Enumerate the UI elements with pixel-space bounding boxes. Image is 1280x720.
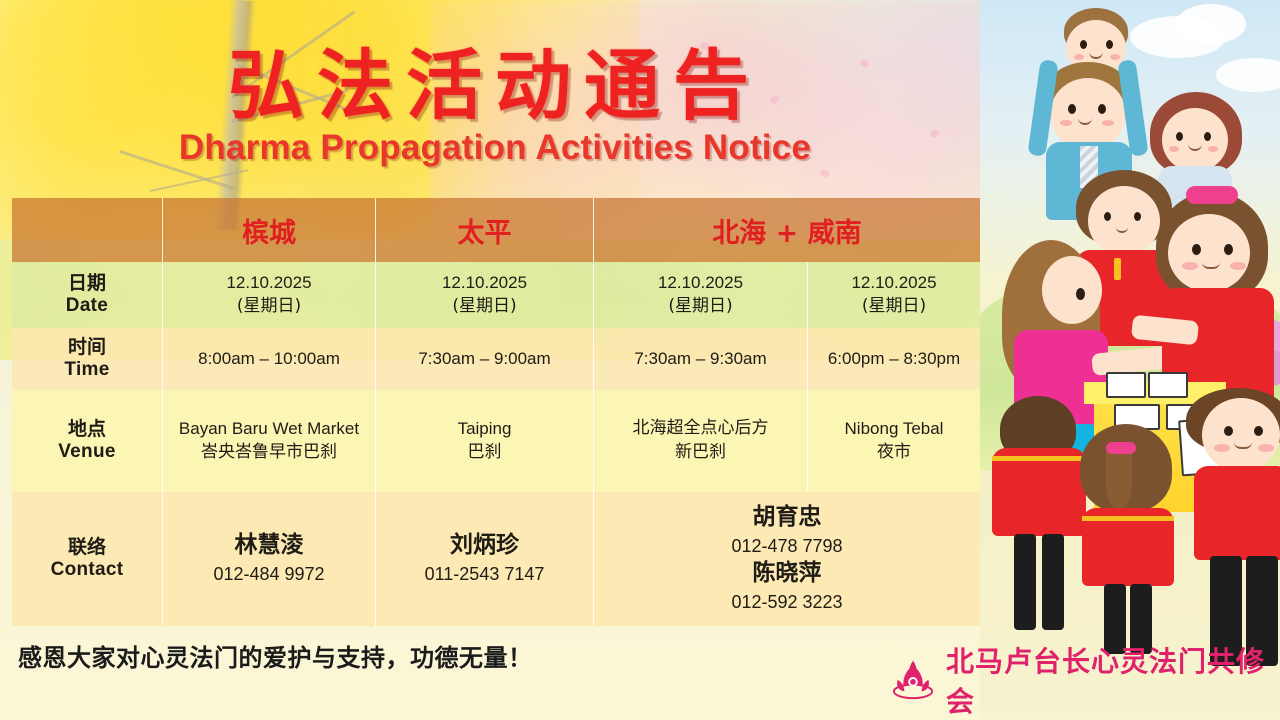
- row-label-time: 时间 Time: [12, 328, 163, 390]
- lotus-icon: [890, 655, 936, 706]
- contact-cell-penang: 林慧淩 012-484 9972: [163, 492, 376, 626]
- time-cell-penang: 8:00am – 10:00am: [163, 328, 376, 390]
- venue-cell-penang: Bayan Baru Wet Market 峇央峇鲁早市巴刹: [163, 390, 376, 492]
- date-value: 12.10.2025: [851, 272, 936, 295]
- row-label-time-cn: 时间: [68, 337, 106, 359]
- contact-name: 林慧淩: [235, 531, 304, 561]
- table-row-contact: 联络 Contact 林慧淩 012-484 9972 刘炳珍 011-2543…: [12, 492, 980, 626]
- time-value: 8:00am – 10:00am: [198, 349, 340, 369]
- weekday-value: (星期日): [862, 295, 926, 319]
- contact-phone[interactable]: 012-484 9972: [213, 561, 324, 587]
- row-label-contact: 联络 Contact: [12, 492, 163, 626]
- title-english: Dharma Propagation Activities Notice: [0, 128, 990, 168]
- date-value: 12.10.2025: [658, 272, 743, 295]
- weekday-value: (星期日): [668, 295, 732, 319]
- row-label-date-en: Date: [66, 295, 108, 318]
- venue-value-line1: 北海超全点心后方: [633, 417, 769, 441]
- column-header-taiping: 太平: [376, 198, 594, 262]
- date-cell-nibong-tebal: 12.10.2025 (星期日): [808, 262, 980, 328]
- venue-value-line1: Bayan Baru Wet Market: [179, 418, 359, 441]
- contact-name: 胡育忠: [753, 503, 822, 533]
- footer-gratitude-note: 感恩大家对心灵法门的爱护与支持，功德无量！: [18, 638, 533, 673]
- row-label-date-cn: 日期: [68, 273, 106, 295]
- time-cell-taiping: 7:30am – 9:00am: [376, 328, 594, 390]
- time-value: 6:00pm – 8:30pm: [828, 349, 960, 369]
- row-label-contact-en: Contact: [51, 559, 124, 582]
- row-label-venue: 地点 Venue: [12, 390, 163, 492]
- row-label-time-en: Time: [64, 359, 109, 382]
- date-cell-taiping: 12.10.2025 (星期日): [376, 262, 594, 328]
- contact-cell-taiping: 刘炳珍 011-2543 7147: [376, 492, 594, 626]
- table-row-date: 日期 Date 12.10.2025 (星期日) 12.10.2025 (星期日…: [12, 262, 980, 328]
- venue-value-line2: 新巴刹: [675, 441, 726, 465]
- contact-name: 刘炳珍: [450, 531, 519, 561]
- date-value: 12.10.2025: [442, 272, 527, 295]
- time-value: 7:30am – 9:30am: [634, 349, 766, 369]
- date-cell-butterworth: 12.10.2025 (星期日): [594, 262, 808, 328]
- header-corner-cell: [12, 198, 163, 262]
- row-label-date: 日期 Date: [12, 262, 163, 328]
- venue-cell-nibong-tebal: Nibong Tebal 夜市: [808, 390, 980, 492]
- table-row-time: 时间 Time 8:00am – 10:00am 7:30am – 9:00am…: [12, 328, 980, 390]
- poster-title-block: 弘法活动通告 Dharma Propagation Activities Not…: [0, 46, 990, 168]
- title-chinese: 弘法活动通告: [0, 46, 990, 126]
- contact-phone[interactable]: 011-2543 7147: [425, 561, 545, 587]
- weekday-value: (星期日): [452, 295, 516, 319]
- row-label-venue-cn: 地点: [68, 419, 106, 441]
- column-header-butterworth-nibong: 北海 + 威南: [594, 198, 980, 262]
- brand-name-text: 北马卢台长心灵法门共修会: [946, 640, 1280, 720]
- contact-name: 陈晓萍: [753, 559, 822, 589]
- contact-phone[interactable]: 012-478 7798: [731, 533, 842, 559]
- table-row-venue: 地点 Venue Bayan Baru Wet Market 峇央峇鲁早市巴刹 …: [12, 390, 980, 492]
- venue-value-line1: Nibong Tebal: [845, 418, 944, 441]
- contact-cell-butterworth-nibong: 胡育忠 012-478 7798 陈晓萍 012-592 3223: [594, 492, 980, 626]
- column-header-penang: 槟城: [163, 198, 376, 262]
- time-cell-nibong-tebal: 6:00pm – 8:30pm: [808, 328, 980, 390]
- time-value: 7:30am – 9:00am: [418, 349, 550, 369]
- row-label-contact-cn: 联络: [68, 537, 106, 559]
- venue-value-line2: 夜市: [877, 441, 911, 465]
- contact-phone[interactable]: 012-592 3223: [731, 589, 842, 615]
- venue-value-line2: 峇央峇鲁早市巴刹: [201, 441, 337, 465]
- venue-value-line2: 巴刹: [468, 441, 502, 465]
- row-label-venue-en: Venue: [58, 441, 115, 464]
- venue-value-line1: Taiping: [458, 418, 512, 441]
- time-cell-butterworth: 7:30am – 9:30am: [594, 328, 808, 390]
- weekday-value: (星期日): [237, 295, 301, 319]
- table-header-row: 槟城 太平 北海 + 威南: [12, 198, 980, 262]
- organization-brand: 北马卢台长心灵法门共修会: [890, 640, 1280, 720]
- venue-cell-taiping: Taiping 巴刹: [376, 390, 594, 492]
- date-cell-penang: 12.10.2025 (星期日): [163, 262, 376, 328]
- date-value: 12.10.2025: [226, 272, 311, 295]
- activities-table: 槟城 太平 北海 + 威南 日期 Date 12.10.2025 (星期日) 1…: [12, 198, 980, 626]
- venue-cell-butterworth: 北海超全点心后方 新巴刹: [594, 390, 808, 492]
